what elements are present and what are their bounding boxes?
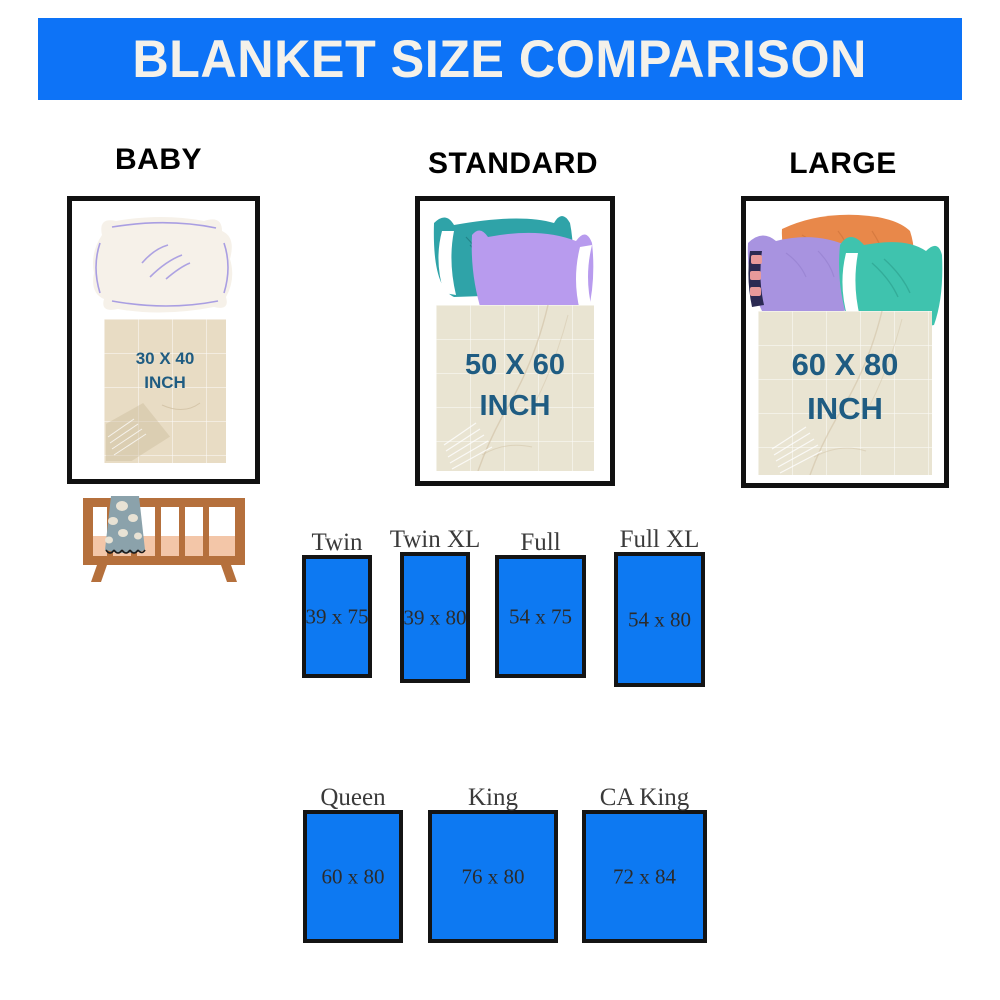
page-title: BLANKET SIZE COMPARISON <box>133 33 867 86</box>
category-header-standard: STANDARD <box>418 147 608 181</box>
category-header-large: LARGE <box>744 147 942 181</box>
large-blanket-shape: 60 X 80 INCH <box>758 311 932 475</box>
bed-size-box-twin-xl[interactable]: Twin XL 39 x 80 <box>400 552 470 683</box>
standard-illustration: 50 X 60 INCH <box>420 201 610 481</box>
blanket-panel-standard[interactable]: 50 X 60 INCH <box>415 196 615 486</box>
crib-icon <box>75 492 253 584</box>
standard-size-label: 50 X 60 INCH <box>436 345 594 427</box>
bed-size-dimensions: 54 x 80 <box>606 607 713 632</box>
standard-blanket-shape: 50 X 60 INCH <box>436 305 594 471</box>
large-size-label: 60 X 80 INCH <box>758 343 932 431</box>
bed-size-box-ca-king[interactable]: CA King 72 x 84 <box>582 810 707 943</box>
bed-size-dimensions: 39 x 80 <box>392 605 478 630</box>
bed-size-dimensions: 54 x 75 <box>487 604 594 629</box>
bed-size-name: CA King <box>556 784 733 812</box>
blanket-panel-large[interactable]: 60 X 80 INCH <box>741 196 949 488</box>
bed-size-dimensions: 76 x 80 <box>420 864 566 889</box>
bed-size-box-full-xl[interactable]: Full XL 54 x 80 <box>614 552 705 687</box>
bed-size-name: Full XL <box>588 526 731 554</box>
bed-size-box-twin[interactable]: Twin 39 x 75 <box>302 555 372 678</box>
bed-size-box-full[interactable]: Full 54 x 75 <box>495 555 586 678</box>
bed-size-dimensions: 72 x 84 <box>574 864 715 889</box>
bed-size-dimensions: 39 x 75 <box>294 604 380 629</box>
baby-illustration: 30 X 40 INCH <box>72 201 255 479</box>
bed-size-box-queen[interactable]: Queen 60 x 80 <box>303 810 403 943</box>
title-banner: BLANKET SIZE COMPARISON <box>38 18 962 100</box>
blanket-panel-baby[interactable]: 30 X 40 INCH <box>67 196 260 484</box>
bed-size-dimensions: 60 x 80 <box>295 864 411 889</box>
bed-size-box-king[interactable]: King 76 x 80 <box>428 810 558 943</box>
baby-size-label: 30 X 40 INCH <box>104 347 226 395</box>
baby-blanket-shape: 30 X 40 INCH <box>104 319 226 463</box>
crib-illustration <box>75 492 253 584</box>
category-header-baby: BABY <box>67 143 250 177</box>
large-illustration: 60 X 80 INCH <box>746 201 944 483</box>
